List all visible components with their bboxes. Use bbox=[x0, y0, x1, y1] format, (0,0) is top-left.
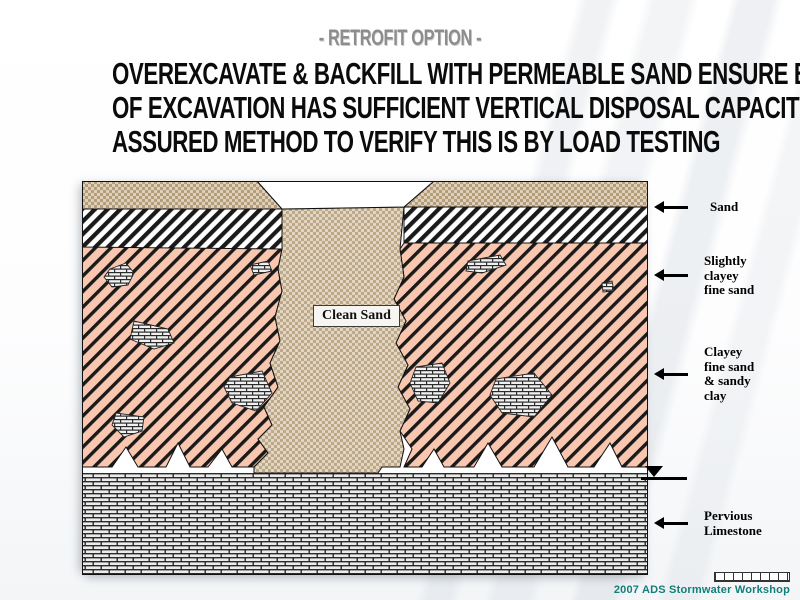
callout-clayey-fine-sand-sandy-clay: Clayey fine sand & sandy clay bbox=[654, 345, 754, 403]
arrow-left-icon bbox=[654, 201, 688, 214]
callout-sand: Sand bbox=[654, 200, 738, 215]
brick-logo-icon bbox=[714, 572, 790, 582]
headline-line-2: OF EXCAVATION HAS SUFFICIENT VERTICAL DI… bbox=[112, 92, 688, 123]
callout-sand-label: Sand bbox=[696, 200, 738, 215]
clean-sand-label: Clean Sand bbox=[313, 305, 400, 327]
arrow-left-icon bbox=[654, 269, 688, 282]
slide-footer: 2007 ADS Stormwater Workshop bbox=[614, 572, 790, 596]
water-table-line bbox=[641, 477, 687, 480]
soil-cross-section-diagram bbox=[82, 181, 648, 575]
title-block: - RETROFIT OPTION - OVEREXCAVATE & BACKF… bbox=[0, 0, 800, 157]
arrow-left-icon bbox=[654, 368, 688, 381]
headline-line-1: OVEREXCAVATE & BACKFILL WITH PERMEABLE S… bbox=[112, 58, 688, 89]
layer-pervious-limestone bbox=[82, 473, 648, 575]
arrow-left-icon bbox=[654, 517, 688, 530]
callout-pervious-limestone: Pervious Limestone bbox=[654, 509, 762, 538]
footer-text: 2007 ADS Stormwater Workshop bbox=[614, 584, 790, 596]
water-table-triangle-icon bbox=[645, 466, 663, 477]
callout-pervious-limestone-label: Pervious Limestone bbox=[696, 509, 762, 538]
callout-clayey-fine-sand-sandy-clay-label: Clayey fine sand & sandy clay bbox=[696, 345, 754, 403]
callout-slightly-clayey-fine-sand-label: Slightly clayey fine sand bbox=[696, 254, 754, 298]
headline-line-3: ASSURED METHOD TO VERIFY THIS IS BY LOAD… bbox=[112, 126, 688, 157]
water-table-symbol bbox=[641, 466, 687, 486]
slide-kicker: - RETROFIT OPTION - bbox=[104, 27, 696, 49]
callout-slightly-clayey-fine-sand: Slightly clayey fine sand bbox=[654, 254, 754, 298]
